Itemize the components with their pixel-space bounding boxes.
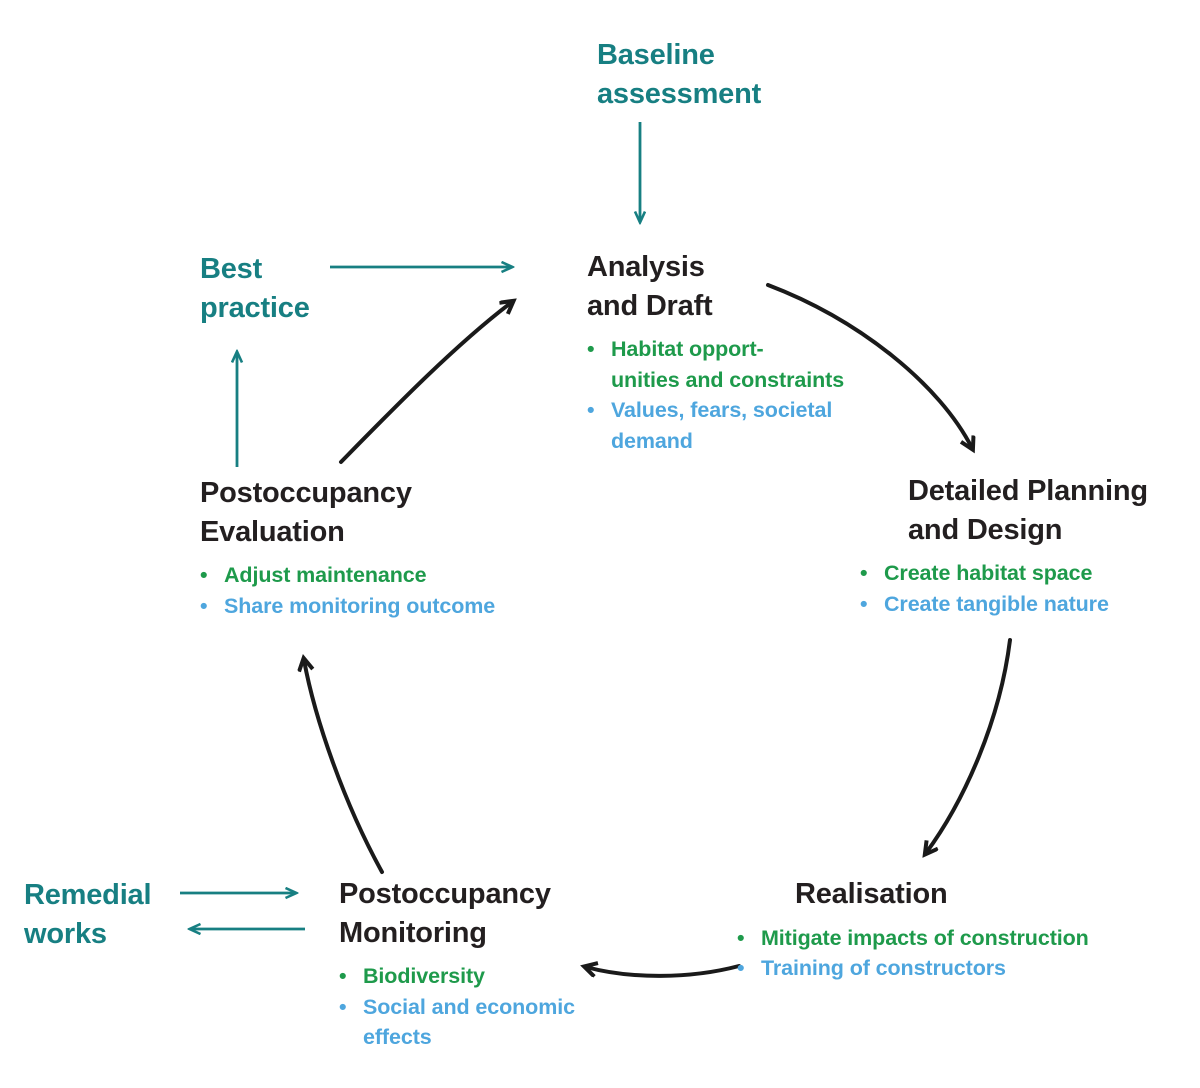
- bullet-dot-icon: •: [860, 589, 884, 620]
- bullet-dot-icon: •: [339, 961, 363, 992]
- label-baseline-assessment: Baseline assessment: [597, 36, 761, 113]
- bullet-dot-icon: •: [737, 953, 761, 984]
- list-item: • Training of constructors: [737, 953, 1200, 984]
- bullet-label: Social and economic effects: [363, 992, 639, 1053]
- bullet-dot-icon: •: [860, 558, 884, 589]
- bullet-label: Habitat opport- unities and constraints: [611, 334, 887, 395]
- node-analysis-and-draft: Analysis and Draft • Habitat opport- uni…: [587, 248, 887, 456]
- list-item: • Biodiversity: [339, 961, 639, 992]
- connector-evaluation-to-analysis: [341, 302, 512, 462]
- list-item: • Social and economic effects: [339, 992, 639, 1053]
- bullet-dot-icon: •: [737, 923, 761, 954]
- list-item: • Mitigate impacts of construction: [737, 923, 1200, 954]
- connector-monitoring-to-evaluation: [304, 660, 382, 872]
- node-postoccupancy-monitoring: Postoccupancy Monitoring • Biodiversity …: [339, 875, 639, 1053]
- node-title: Postoccupancy Monitoring: [339, 875, 639, 952]
- node-title: Postoccupancy Evaluation: [200, 474, 530, 551]
- bullet-dot-icon: •: [587, 395, 611, 426]
- node-postoccupancy-evaluation: Postoccupancy Evaluation • Adjust mainte…: [200, 474, 530, 621]
- node-bullet-list: • Biodiversity • Social and economic eff…: [339, 961, 639, 1053]
- bullet-label: Create tangible nature: [884, 589, 1198, 620]
- node-bullet-list: • Create habitat space • Create tangible…: [860, 558, 1198, 619]
- bullet-label: Mitigate impacts of construction: [761, 923, 1200, 954]
- list-item: • Adjust maintenance: [200, 560, 530, 591]
- node-realisation: Realisation • Mitigate impacts of constr…: [795, 875, 1200, 984]
- bullet-dot-icon: •: [200, 591, 224, 622]
- bullet-dot-icon: •: [587, 334, 611, 365]
- list-item: • Values, fears, societal demand: [587, 395, 887, 456]
- node-bullet-list: • Habitat opport- unities and constraint…: [587, 334, 887, 456]
- bullet-label: Create habitat space: [884, 558, 1198, 589]
- node-bullet-list: • Adjust maintenance • Share monitoring …: [200, 560, 530, 621]
- bullet-label: Training of constructors: [761, 953, 1200, 984]
- diagram-canvas: Baseline assessment Best practice Remedi…: [0, 0, 1200, 1088]
- bullet-label: Share monitoring outcome: [224, 591, 530, 622]
- node-detailed-planning-and-design: Detailed Planning and Design • Create ha…: [908, 472, 1198, 619]
- list-item: • Create tangible nature: [860, 589, 1198, 620]
- label-remedial-works: Remedial works: [24, 876, 151, 953]
- list-item: • Habitat opport- unities and constraint…: [587, 334, 887, 395]
- connector-detailed-to-realisation: [926, 640, 1010, 853]
- bullet-dot-icon: •: [200, 560, 224, 591]
- list-item: • Create habitat space: [860, 558, 1198, 589]
- node-title: Detailed Planning and Design: [908, 472, 1198, 549]
- bullet-label: Values, fears, societal demand: [611, 395, 887, 456]
- node-title: Analysis and Draft: [587, 248, 887, 325]
- label-best-practice: Best practice: [200, 250, 310, 327]
- bullet-label: Adjust maintenance: [224, 560, 530, 591]
- list-item: • Share monitoring outcome: [200, 591, 530, 622]
- bullet-label: Biodiversity: [363, 961, 639, 992]
- node-bullet-list: • Mitigate impacts of construction • Tra…: [737, 923, 1200, 984]
- bullet-dot-icon: •: [339, 992, 363, 1023]
- node-title: Realisation: [795, 875, 1200, 914]
